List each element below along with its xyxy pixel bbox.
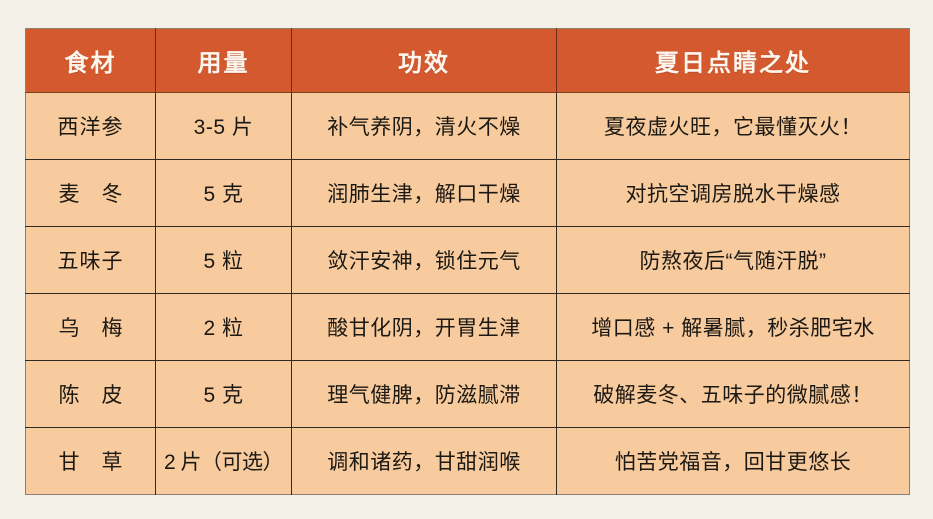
table-row: 麦冬 5 克 润肺生津，解口干燥 对抗空调房脱水干燥感 — [26, 160, 910, 227]
cell-ingredient: 甘草 — [26, 428, 156, 495]
cell-effect: 补气养阴，清火不燥 — [292, 93, 557, 160]
ingredient-char-second: 冬 — [102, 183, 123, 206]
table-row: 乌梅 2 粒 酸甘化阴，开胃生津 增口感 + 解暑腻，秒杀肥宅水 — [26, 294, 910, 361]
table-header: 食材 用量 功效 夏日点睛之处 — [26, 29, 910, 93]
ingredient-char-first: 乌 — [59, 317, 80, 340]
cell-highlight: 增口感 + 解暑腻，秒杀肥宅水 — [557, 294, 910, 361]
cell-effect: 润肺生津，解口干燥 — [292, 160, 557, 227]
cell-effect: 酸甘化阴，开胃生津 — [292, 294, 557, 361]
ingredient-char-first: 陈 — [59, 384, 80, 407]
cell-dose: 2 粒 — [156, 294, 292, 361]
column-header-highlight: 夏日点睛之处 — [557, 29, 910, 93]
cell-highlight: 破解麦冬、五味子的微腻感！ — [557, 361, 910, 428]
cell-ingredient: 麦冬 — [26, 160, 156, 227]
table-body: 西洋参 3-5 片 补气养阴，清火不燥 夏夜虚火旺，它最懂灭火！ 麦冬 5 克 … — [26, 93, 910, 495]
column-header-ingredient: 食材 — [26, 29, 156, 93]
ingredient-char-first: 甘 — [59, 451, 80, 474]
cell-dose: 5 克 — [156, 361, 292, 428]
cell-dose: 5 粒 — [156, 227, 292, 294]
ingredient-char-second: 梅 — [102, 317, 123, 340]
column-header-effect: 功效 — [292, 29, 557, 93]
cell-effect: 调和诸药，甘甜润喉 — [292, 428, 557, 495]
cell-ingredient: 乌梅 — [26, 294, 156, 361]
ingredient-char-second: 草 — [102, 451, 123, 474]
cell-highlight: 对抗空调房脱水干燥感 — [557, 160, 910, 227]
cell-ingredient: 陈皮 — [26, 361, 156, 428]
ingredient-char-first: 麦 — [59, 183, 80, 206]
header-row: 食材 用量 功效 夏日点睛之处 — [26, 29, 910, 93]
table-row: 西洋参 3-5 片 补气养阴，清火不燥 夏夜虚火旺，它最懂灭火！ — [26, 93, 910, 160]
cell-highlight: 怕苦党福音，回甘更悠长 — [557, 428, 910, 495]
cell-dose: 3-5 片 — [156, 93, 292, 160]
table-row: 五味子 5 粒 敛汗安神，锁住元气 防熬夜后“气随汗脱” — [26, 227, 910, 294]
column-header-dose: 用量 — [156, 29, 292, 93]
ingredient-char-second: 皮 — [102, 384, 123, 407]
cell-highlight: 夏夜虚火旺，它最懂灭火！ — [557, 93, 910, 160]
table-row: 甘草 2 片（可选） 调和诸药，甘甜润喉 怕苦党福音，回甘更悠长 — [26, 428, 910, 495]
cell-effect: 敛汗安神，锁住元气 — [292, 227, 557, 294]
recipe-table-container: 食材 用量 功效 夏日点睛之处 西洋参 3-5 片 补气养阴，清火不燥 夏夜虚火… — [25, 28, 909, 492]
cell-dose: 2 片（可选） — [156, 428, 292, 495]
cell-ingredient: 西洋参 — [26, 93, 156, 160]
page-background: 食材 用量 功效 夏日点睛之处 西洋参 3-5 片 补气养阴，清火不燥 夏夜虚火… — [0, 0, 933, 519]
cell-effect: 理气健脾，防滋腻滞 — [292, 361, 557, 428]
cell-dose: 5 克 — [156, 160, 292, 227]
recipe-table: 食材 用量 功效 夏日点睛之处 西洋参 3-5 片 补气养阴，清火不燥 夏夜虚火… — [25, 28, 910, 495]
table-row: 陈皮 5 克 理气健脾，防滋腻滞 破解麦冬、五味子的微腻感！ — [26, 361, 910, 428]
cell-ingredient: 五味子 — [26, 227, 156, 294]
cell-highlight: 防熬夜后“气随汗脱” — [557, 227, 910, 294]
